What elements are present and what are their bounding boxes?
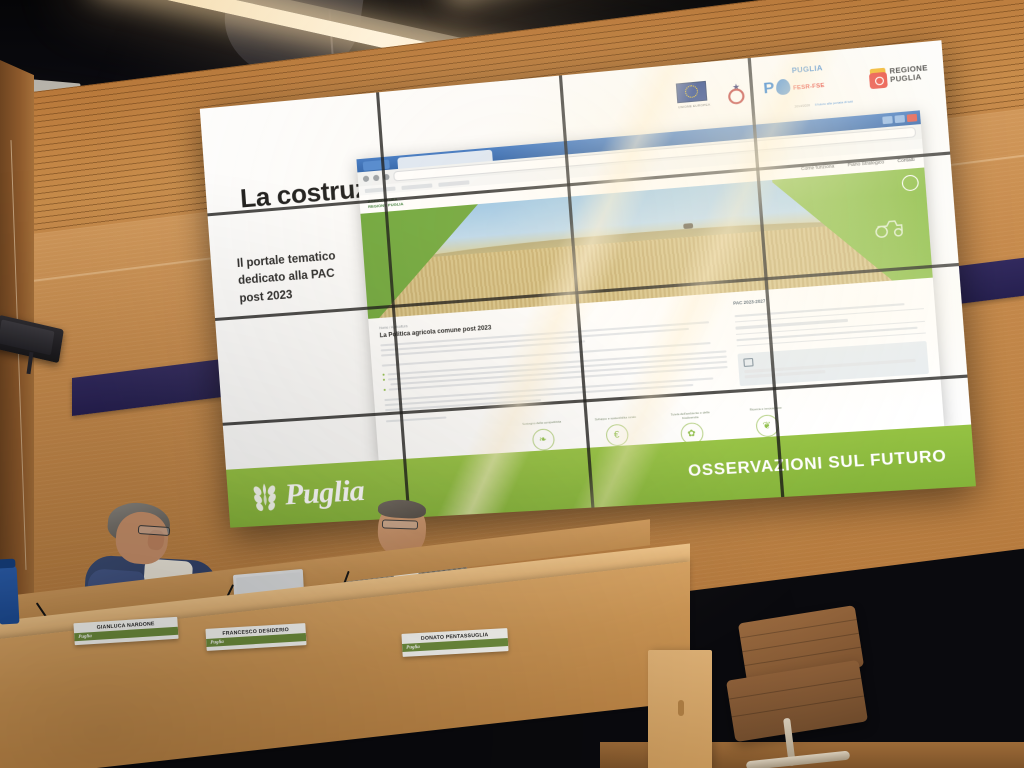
eu-flag-logo: UNIONE EUROPEA bbox=[676, 81, 710, 110]
presentation-slide: UNIONE EUROPEA ★ P PUGLIA FESR-FSE 2014/… bbox=[200, 40, 976, 528]
slide-subtitle: Il portale tematico dedicato alla PAC po… bbox=[236, 248, 338, 308]
repubblica-italiana-emblem: ★ bbox=[726, 79, 747, 104]
nameplate-logo: Puglia bbox=[78, 634, 92, 640]
conference-room-photo: UNIONE EUROPEA ★ P PUGLIA FESR-FSE 2014/… bbox=[0, 0, 1024, 768]
site-nav: Come funziona Piano Strategico Contatti bbox=[801, 156, 915, 171]
regione-puglia-logo: REGIONE PUGLIA bbox=[868, 64, 929, 89]
wheat-sprig-icon bbox=[251, 481, 279, 513]
video-wall: UNIONE EUROPEA ★ P PUGLIA FESR-FSE 2014/… bbox=[200, 40, 976, 528]
browser-window-screenshot: AGRICOLTURA REGIONE PUGLIA Come funziona… bbox=[356, 110, 944, 462]
reload-icon bbox=[383, 174, 390, 181]
po-puglia-fesr-fse-logo: P PUGLIA FESR-FSE 2014/2020 Il futuro al… bbox=[762, 55, 854, 114]
nav-item: Piano Strategico bbox=[847, 159, 884, 167]
tractor-icon bbox=[870, 215, 909, 239]
site-brand: AGRICOLTURA REGIONE PUGLIA bbox=[368, 196, 404, 209]
back-icon bbox=[363, 176, 370, 183]
eyeglasses bbox=[382, 519, 418, 529]
nav-item: Contatti bbox=[897, 156, 915, 163]
euro-circle-icon: € bbox=[605, 423, 629, 446]
puglia-brand-logo: Puglia bbox=[251, 474, 366, 515]
maximize-icon bbox=[894, 115, 905, 123]
slide-slogan: OSSERVAZIONI SUL FUTURO bbox=[688, 447, 948, 481]
puglia-wordmark: Puglia bbox=[284, 474, 366, 513]
wheat-icon: ❦ bbox=[755, 414, 780, 437]
browser-tab-active bbox=[363, 160, 390, 171]
water-bottle bbox=[0, 566, 20, 625]
brown-leather-office-chair bbox=[712, 614, 872, 768]
nav-item: Come funziona bbox=[801, 163, 835, 171]
forward-icon bbox=[373, 175, 380, 182]
nameplate-logo: Puglia bbox=[406, 644, 420, 650]
wooden-lectern bbox=[648, 650, 712, 768]
nameplate-logo: Puglia bbox=[210, 639, 224, 645]
external-link-icon bbox=[743, 358, 753, 367]
close-icon bbox=[907, 114, 918, 122]
minimize-icon bbox=[882, 116, 893, 124]
leaf-icon: ❧ bbox=[531, 428, 555, 451]
sidebar-callout bbox=[737, 341, 929, 386]
